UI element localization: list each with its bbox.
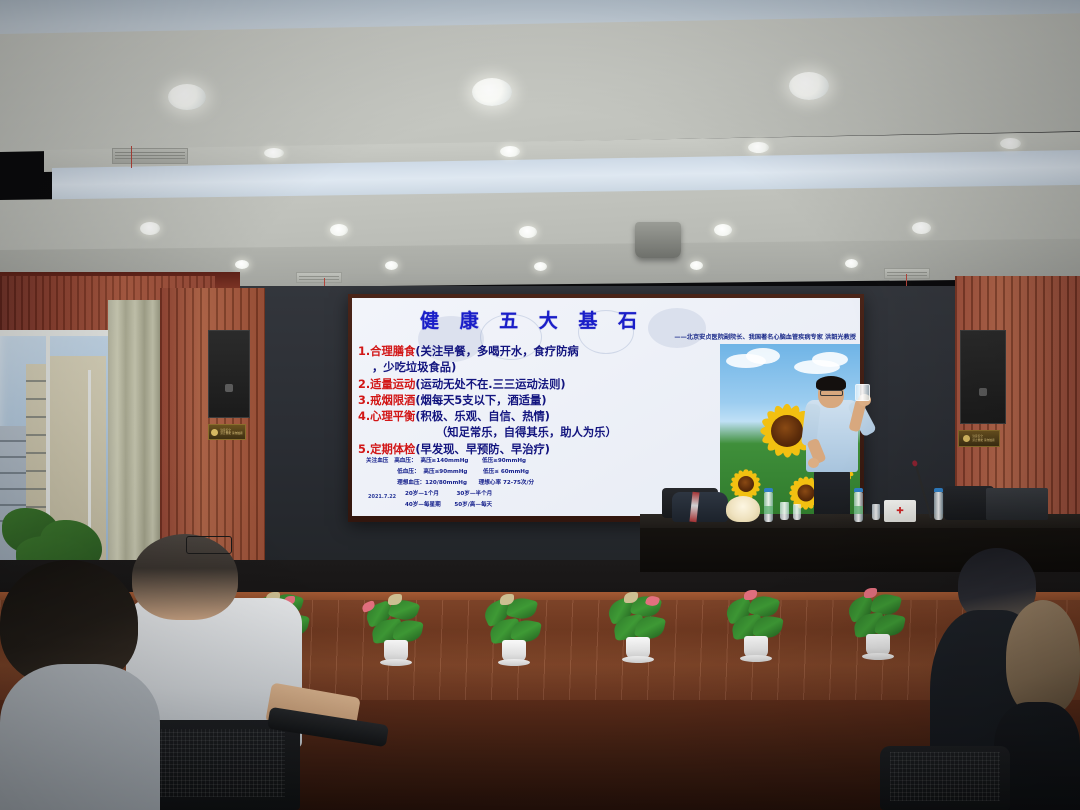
item-detail: (早发现、早预防、早治疗) [415, 443, 550, 456]
item-detail: (积极、乐观、自信、热情) [415, 410, 550, 423]
window-city-view [0, 330, 120, 580]
safety-plaque: 注意安全禁止攀爬 请勿触摸 [208, 424, 246, 440]
bp-line: 理想血压：120/80mmHg 理想心率 72-75次/分 [366, 480, 534, 486]
item-detail: （知足常乐，自得其乐，助人为乐） [436, 426, 617, 439]
bottle-cap [934, 488, 943, 492]
recessed-downlight [168, 84, 206, 110]
plant-saucer [498, 659, 530, 666]
anthurium-potted-plant [844, 588, 912, 666]
audience-glasses [186, 536, 232, 554]
item-heading: 心理平衡 [370, 410, 415, 423]
red-cross-icon: ✚ [896, 507, 904, 516]
recessed-downlight [500, 146, 520, 157]
item-detail: (烟每天5支以下，酒适量) [415, 394, 546, 407]
item-number: 4. [358, 410, 370, 423]
recessed-downlight [140, 222, 160, 235]
wall-speaker [960, 330, 1006, 424]
bottle-label [854, 506, 863, 514]
bp-line: 关注血压 高血压： 高压≥140mmHg 低压≥90mmHg [366, 458, 526, 464]
slide-list-item-continuation: ，少吃垃圾食品) [358, 360, 718, 376]
slide-bullet-list: 1.合理膳食(关注早餐，多喝开水，食疗防病 ，少吃垃圾食品) 2.适量运动(运动… [358, 344, 718, 458]
plaque-icon [211, 429, 218, 436]
slide-subtitle: ——北京安贞医院副院长、我国著名心脑血管疾病专家 洪韶光教授 [534, 332, 856, 341]
recessed-downlight [912, 222, 931, 234]
sunflower-center [771, 415, 803, 447]
cloud [746, 348, 780, 364]
presenter-held-cup [855, 384, 870, 401]
item-detail: (运动无处不在.三三运动法则) [415, 378, 565, 391]
item-heading: 定期体检 [370, 443, 415, 456]
lecture-room-photo: 注意安全禁止攀爬 请勿触摸 注意安全禁止攀爬 请勿触摸 健 康 五 大 基 石 … [0, 0, 1080, 810]
ceiling-band-upper [0, 13, 1080, 152]
cloud [812, 352, 848, 367]
plant-saucer [862, 653, 894, 660]
ceiling-marker-line [131, 146, 132, 168]
item-number: 2. [358, 378, 370, 391]
plant-saucer [740, 655, 772, 662]
slide-list-item: 1.合理膳食(关注早餐，多喝开水，食疗防病 [358, 344, 718, 360]
slide-list-item: 4.心理平衡(积极、乐观、自信、热情) [358, 409, 718, 425]
bp-line: 40岁—每星期 50岁/高—每天 [366, 502, 492, 508]
office-chair[interactable] [880, 746, 1010, 810]
recessed-downlight [1000, 138, 1021, 149]
water-bottle[interactable] [854, 492, 863, 522]
bottle-cap [854, 488, 863, 492]
recessed-downlight [534, 262, 547, 271]
presenter-glasses [820, 390, 843, 396]
recessed-downlight [472, 78, 512, 106]
wall-speaker [208, 330, 250, 418]
item-heading: 戒烟限酒 [370, 394, 415, 407]
ceiling-projector [635, 222, 681, 258]
recessed-downlight [264, 148, 284, 158]
sunflower-center [738, 476, 754, 492]
slide-list-item: 2.适量运动(运动无处不在.三三运动法则) [358, 377, 718, 393]
projection-screen[interactable]: 健 康 五 大 基 石 ——北京安贞医院副院长、我国著名心脑血管疾病专家 洪韶光… [352, 298, 860, 516]
blood-pressure-table: 关注血压 高血压： 高压≥140mmHg 低压≥90mmHg 低血压： 高压≤9… [366, 456, 534, 511]
audience-head [1006, 600, 1080, 716]
slide-list-item: 3.戒烟限酒(烟每天5支以下，酒适量) [358, 393, 718, 409]
plant-saucer [622, 656, 654, 663]
slide-date: 2021.7.22 [368, 494, 396, 500]
anthurium-potted-plant [480, 594, 548, 672]
recessed-downlight [385, 261, 398, 270]
air-conditioning-vent [112, 148, 188, 164]
water-bottle[interactable] [934, 492, 943, 520]
window-transom [0, 330, 120, 336]
item-detail: (关注早餐，多喝开水，食疗防病 [415, 345, 578, 358]
item-heading: 适量运动 [370, 378, 415, 391]
drinking-glass[interactable] [793, 504, 801, 520]
item-number: 5. [358, 443, 370, 456]
recessed-downlight [748, 142, 769, 153]
recessed-downlight [235, 260, 249, 269]
audience-shoulders [0, 664, 160, 810]
bottle-cap [764, 488, 773, 492]
air-conditioning-vent [884, 268, 930, 279]
sunflower-center [798, 485, 815, 502]
air-conditioning-vent [296, 272, 342, 283]
laptop-on-table[interactable] [986, 488, 1048, 520]
presenter-left-hand [808, 458, 819, 468]
safety-plaque: 注意安全禁止攀爬 请勿触摸 [958, 430, 1000, 447]
plaque-text: 注意安全禁止攀爬 请勿触摸 [972, 435, 994, 441]
item-number: 3. [358, 394, 370, 407]
recessed-downlight [789, 72, 829, 100]
recessed-downlight [330, 224, 348, 236]
plaque-text: 注意安全禁止攀爬 请勿触摸 [220, 429, 242, 435]
anthurium-potted-plant [722, 590, 790, 668]
anthurium-potted-plant [362, 594, 430, 672]
recessed-downlight [714, 224, 732, 236]
slide-title: 健 康 五 大 基 石 [382, 306, 682, 333]
water-bottle[interactable] [764, 492, 773, 522]
bottle-label [764, 506, 773, 514]
drinking-glass[interactable] [780, 502, 789, 520]
backpack-on-table[interactable] [672, 492, 728, 522]
slide-list-item-continuation: （知足常乐，自得其乐，助人为乐） [358, 425, 718, 441]
flower-bouquet [726, 496, 760, 522]
item-number: 1. [358, 345, 370, 358]
first-aid-kit[interactable]: ✚ [884, 500, 916, 522]
recessed-downlight [690, 261, 703, 270]
item-detail: ，少吃垃圾食品) [372, 361, 456, 374]
anthurium-potted-plant [604, 592, 672, 670]
recessed-downlight [845, 259, 858, 268]
item-heading: 合理膳食 [370, 345, 415, 358]
backpack-strap [689, 492, 699, 523]
plaque-icon [963, 435, 970, 442]
presenter-hair [816, 376, 846, 391]
drinking-glass[interactable] [872, 504, 880, 520]
plant-saucer [380, 659, 412, 666]
recessed-downlight [519, 226, 537, 238]
bp-line: 低血压： 高压≤90mmHg 低压≤ 60mmHg [366, 469, 529, 475]
